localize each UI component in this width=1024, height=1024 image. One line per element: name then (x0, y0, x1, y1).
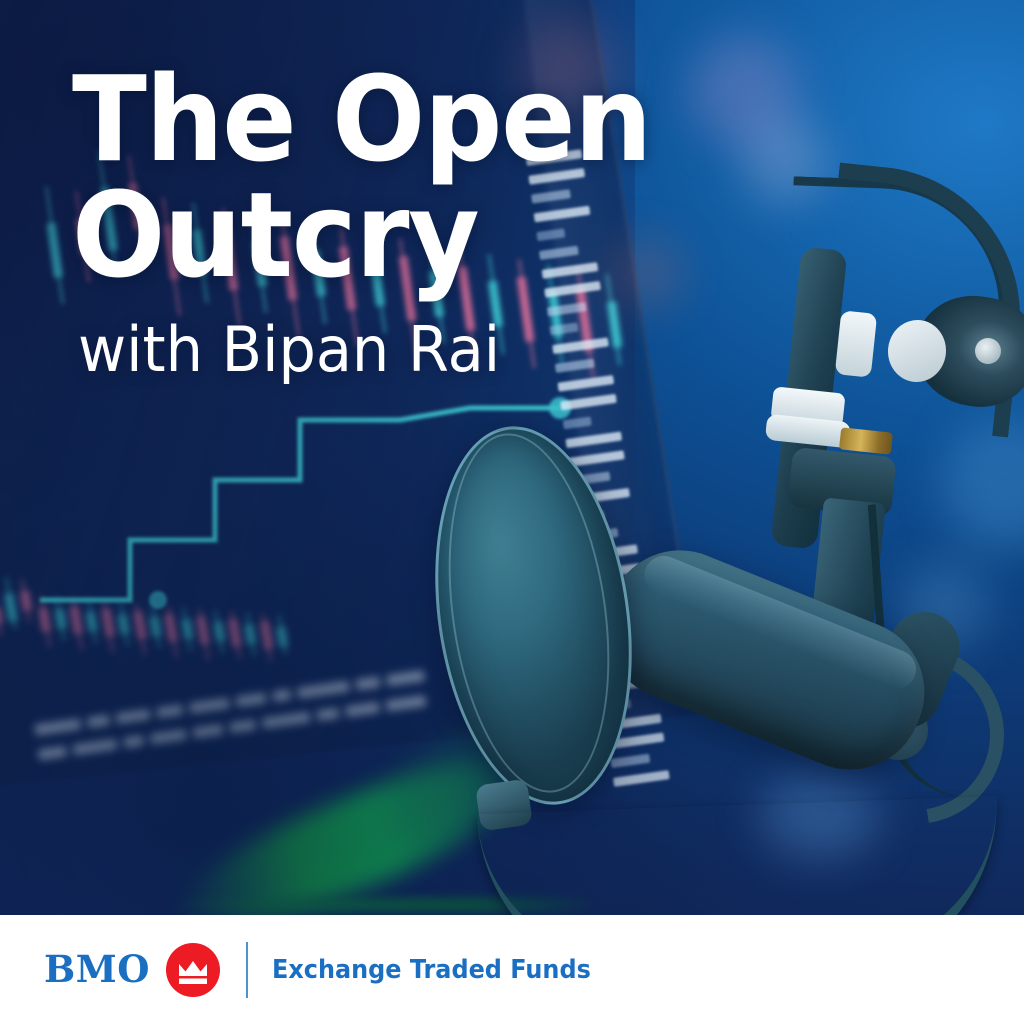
brand-lockup: BMO Exchange Traded Funds (0, 942, 619, 998)
bmo-wordmark: BMO (44, 951, 150, 988)
mic-mount-knob (835, 310, 877, 377)
podcast-host-subtitle: with Bipan Rai (78, 319, 737, 381)
brand-footer: BMO Exchange Traded Funds (0, 915, 1024, 1024)
brand-tagline: Exchange Traded Funds (272, 955, 591, 985)
brand-divider (246, 942, 248, 998)
bmo-roundel-m-icon (166, 943, 220, 997)
title-block: The Open Outcry with Bipan Rai (72, 62, 772, 381)
podcast-title: The Open Outcry (72, 62, 723, 293)
mic-mount-brass-ring (839, 427, 893, 454)
podcast-cover-art: The Open Outcry with Bipan Rai BMO Excha… (0, 0, 1024, 1024)
mic-mount-screw (975, 338, 1001, 364)
